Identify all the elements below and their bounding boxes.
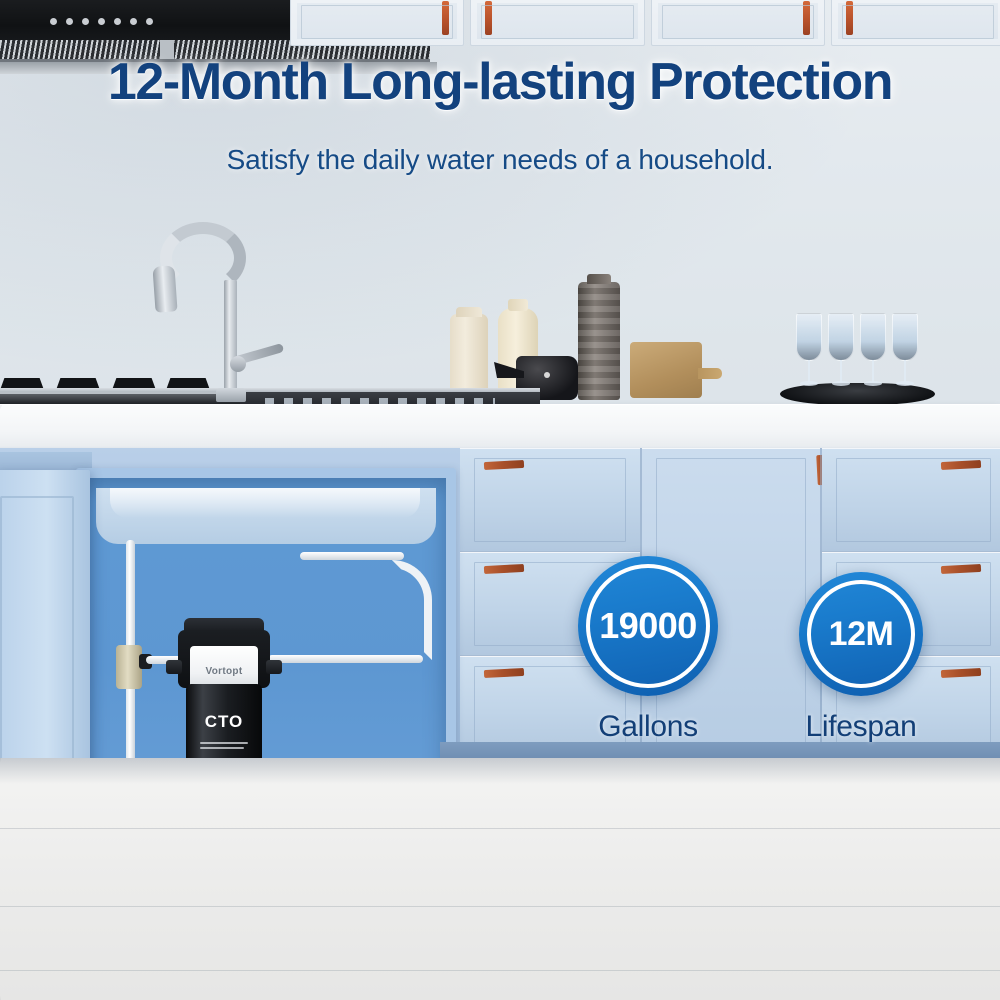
upper-cabinet-door: [470, 0, 644, 46]
faucet-spray-head: [152, 265, 177, 312]
stat-badges: 19000 Gallons 12M Lifespan: [520, 556, 960, 786]
page-title: 12-Month Long-lasting Protection: [0, 52, 1000, 112]
cabinet-handle-icon: [846, 1, 853, 35]
cabinet-drawer: [460, 448, 640, 552]
badge-value: 19000: [599, 608, 697, 644]
wooden-cutting-board: [630, 342, 702, 398]
cabinet-handle-icon: [941, 460, 981, 470]
glassware-group: [780, 300, 940, 405]
range-hood-lights: [50, 18, 153, 25]
wine-glass: [892, 313, 918, 389]
cabinet-handle-icon: [485, 1, 492, 35]
upper-cabinet-door: [290, 0, 464, 46]
cabinet-drawer: [822, 448, 1000, 552]
tile-floor: [0, 758, 1000, 1000]
faucet-lever-pivot: [230, 356, 246, 372]
wine-glass: [796, 313, 822, 389]
stat-badge-lifespan: 12M Lifespan: [770, 572, 952, 744]
faucet-base: [216, 388, 246, 402]
cabinet-handle-icon: [442, 1, 449, 35]
filter-outlet-port: [266, 660, 282, 674]
badge-value: 12M: [829, 617, 894, 651]
cabinet-handle-icon: [484, 564, 524, 574]
upper-cabinet-door: [831, 0, 1000, 46]
pull-down-kitchen-faucet: [150, 222, 260, 400]
marble-countertop: [0, 404, 1000, 454]
faucet-column: [224, 280, 237, 398]
wine-glass: [828, 313, 854, 389]
filter-head: Vortopt: [178, 630, 270, 688]
brand-name: Vortopt: [206, 666, 243, 677]
filter-inlet-port: [166, 660, 182, 674]
cutting-board-handle: [698, 368, 722, 379]
badge-circle: 19000: [578, 556, 718, 696]
cabinet-handle-icon: [484, 668, 524, 678]
counter-decor: [430, 275, 680, 400]
filter-model-label: CTO: [186, 712, 262, 732]
shutoff-valve: [116, 645, 142, 689]
wine-glass: [860, 313, 886, 389]
page-subtitle: Satisfy the daily water needs of a house…: [0, 144, 1000, 176]
tubing-upper-run: [300, 552, 404, 560]
upper-cabinets: [290, 0, 1000, 46]
tall-grey-vase: [578, 282, 620, 400]
upper-cabinet-door: [651, 0, 825, 46]
stat-badge-gallons: 19000 Gallons: [548, 556, 748, 744]
cabinet-handle-icon: [803, 1, 810, 35]
badge-circle: 12M: [799, 572, 923, 696]
sink-basin-underside: [96, 488, 436, 544]
badge-caption: Gallons: [548, 710, 748, 744]
cabinet-handle-icon: [484, 460, 524, 470]
product-marketing-image: Vortopt CTO 12-Month Long-lasting Protec…: [0, 0, 1000, 1000]
teapot-knob: [544, 372, 550, 378]
badge-caption: Lifespan: [770, 710, 952, 744]
